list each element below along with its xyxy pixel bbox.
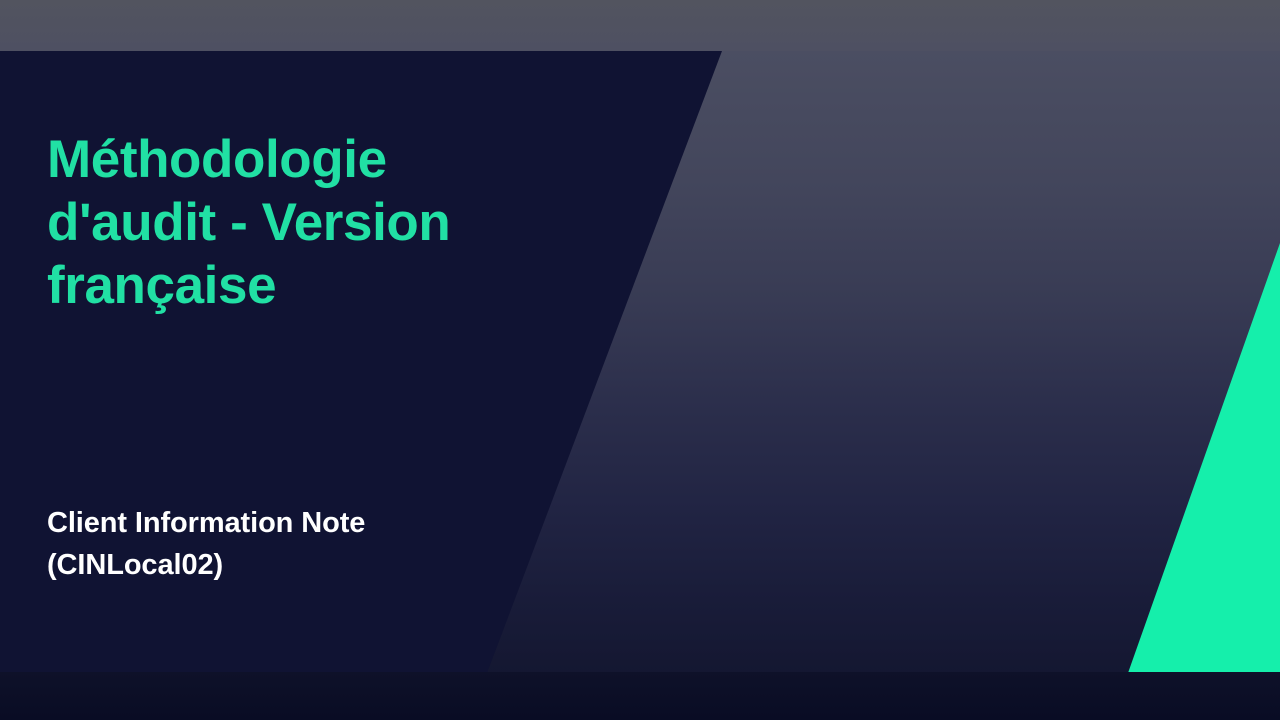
title-text-block: Méthodologie d'audit - Version française… (47, 0, 507, 720)
slide-title: Méthodologie d'audit - Version française (47, 128, 507, 317)
title-slide: Méthodologie d'audit - Version française… (0, 0, 1280, 720)
slide-subtitle: Client Information Note (CINLocal02) (47, 502, 487, 586)
